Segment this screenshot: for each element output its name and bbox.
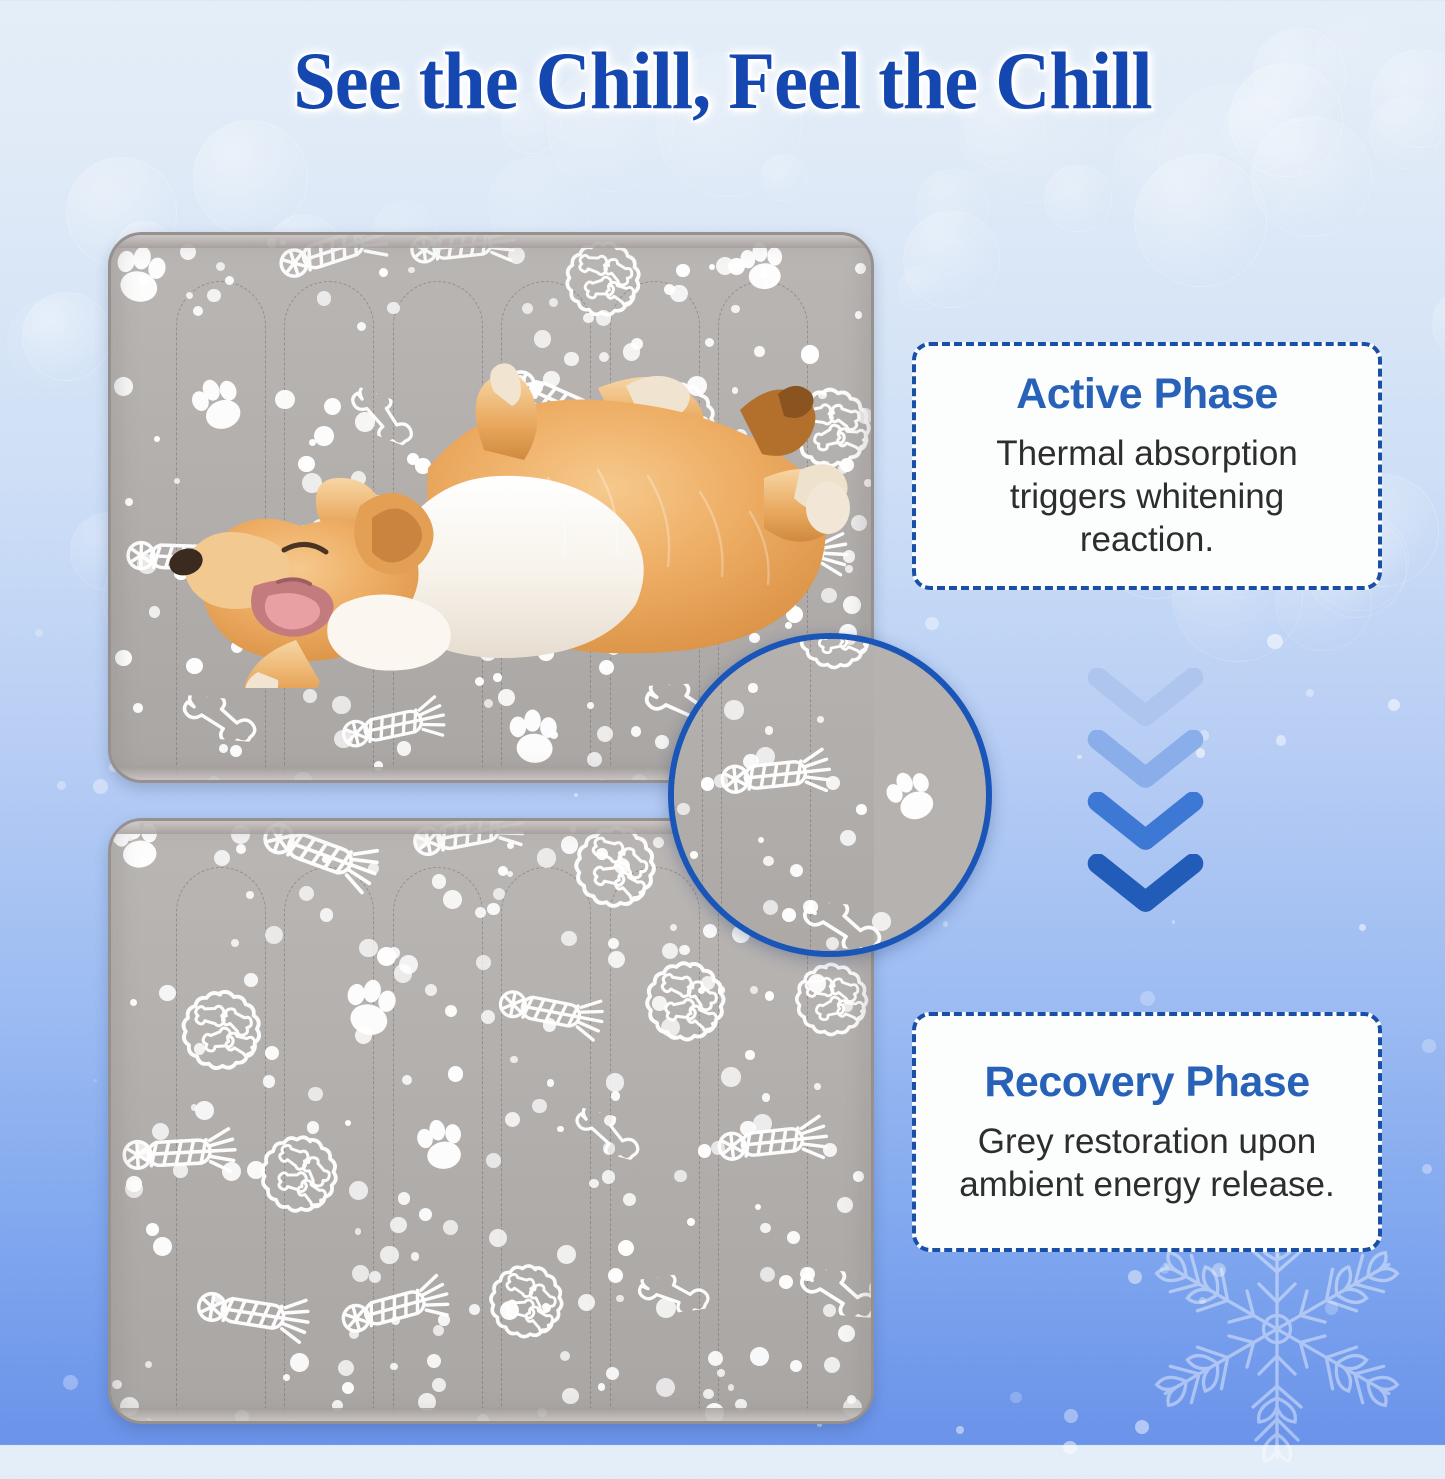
bubble-shape [22,292,111,381]
bubble-shape [1134,154,1267,287]
pattern-dot [872,912,890,930]
snow-dot [574,793,578,797]
ball-toy-motif [412,1423,500,1424]
bubble-shape [7,299,93,385]
paw-print-motif [871,755,956,840]
mat-binding-bottom [111,1408,871,1421]
pattern-dot [748,683,757,692]
bubble-shape [1044,165,1111,232]
magnifier-content [668,633,874,957]
pattern-dot [856,804,867,815]
card-heading: Active Phase [1016,370,1278,419]
snow-dot [63,1375,78,1390]
card-heading: Recovery Phase [984,1058,1309,1107]
snow-dot [1359,924,1366,931]
snow-dot [93,779,108,794]
snow-dot [1010,1392,1022,1404]
snow-dot [1172,920,1175,923]
snow-dot [57,781,67,791]
card-active-phase: Active Phase Thermal absorption triggers… [912,342,1382,590]
snow-dot [1422,1039,1435,1052]
snow-dot [1267,634,1282,649]
snow-dot [1077,755,1082,760]
snow-dot [1140,991,1155,1006]
snow-dot [1064,1409,1078,1423]
card-body: Thermal absorption triggers whitening re… [916,433,1378,561]
mat-binding-top [111,235,871,248]
page-title: See the Chill, Feel the Chill [51,34,1395,128]
chevron-down-icon [1083,730,1208,792]
magnified-cooling-imprint [668,633,992,957]
pattern-dot [148,780,155,784]
snow-dot [35,629,43,637]
pattern-dot [512,780,525,783]
pattern-dot [756,747,775,766]
bubble-shape [916,169,989,242]
pattern-dot [690,851,698,859]
chevron-down-icon [1083,792,1208,854]
snow-dot [1306,689,1314,697]
snow-dot [925,617,939,631]
pattern-dot [677,803,689,815]
chevron-down-icon [1083,854,1208,916]
bubble-shape [1432,289,1445,359]
bubble-shape [1113,118,1217,222]
pattern-dot [817,716,823,722]
pattern-dot [782,908,796,922]
card-body: Grey restoration upon ambient energy rel… [916,1121,1378,1206]
bubble-shape [761,154,807,200]
bubble-shape [903,211,1000,308]
card-recovery-phase: Recovery Phase Grey restoration upon amb… [912,1012,1382,1252]
snow-dot [1388,699,1400,711]
pattern-dot [763,900,778,915]
snow-dot [1422,1164,1432,1174]
pattern-dot [763,856,773,866]
pattern-dot [845,634,856,645]
flow-arrows [1083,668,1213,918]
bubble-shape [193,120,308,235]
pattern-dot [803,900,817,914]
pattern-dot [724,700,744,720]
snow-dot [1063,1441,1076,1454]
snow-dot [1276,735,1286,745]
pattern-dot [840,830,856,846]
bubble-shape [1251,116,1372,237]
snow-dot [943,921,949,927]
chevron-down-icon [1083,668,1208,730]
bubble-shape [898,266,943,311]
snow-dot [94,1079,97,1082]
snow-dot [956,1426,964,1434]
